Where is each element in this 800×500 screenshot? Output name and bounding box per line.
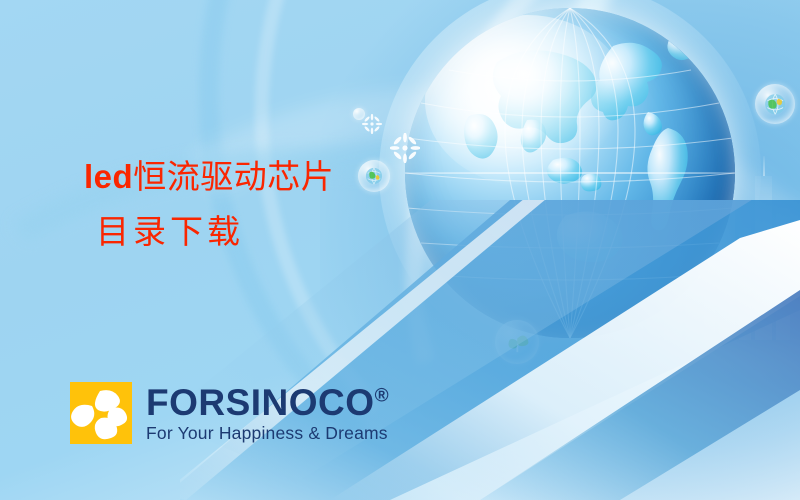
page-title: led恒流驱动芯片 目录下载	[84, 160, 334, 250]
starburst-small-icon	[362, 114, 382, 134]
logo-name-text: FORSINOCO	[146, 382, 375, 423]
bubble-globe	[358, 160, 390, 192]
bubble-tiny	[353, 108, 365, 120]
mini-globe-icon-2	[764, 93, 786, 115]
banner-slide: led恒流驱动芯片 目录下载 FORSINOCO® For Your Happi…	[0, 0, 800, 500]
registered-trademark-icon: ®	[375, 385, 389, 406]
logo-wordmark: FORSINOCO® For Your Happiness & Dreams	[146, 384, 389, 443]
headline-line-1-latin: led	[84, 158, 133, 195]
headline-line-2: 目录下载	[96, 217, 334, 250]
logo-mark-square	[70, 382, 132, 444]
bubble-globe-small	[755, 84, 795, 124]
four-petal-flower-icon	[70, 382, 132, 444]
starburst-large-icon	[390, 133, 420, 163]
headline-line-1-han: 恒流驱动芯片	[133, 160, 334, 196]
logo-tagline: For Your Happiness & Dreams	[146, 425, 389, 443]
mini-globe-icon	[365, 167, 383, 185]
forsinoco-logo: FORSINOCO® For Your Happiness & Dreams	[70, 382, 389, 444]
logo-name: FORSINOCO®	[146, 384, 389, 421]
headline-line-1: led恒流驱动芯片	[84, 160, 334, 195]
